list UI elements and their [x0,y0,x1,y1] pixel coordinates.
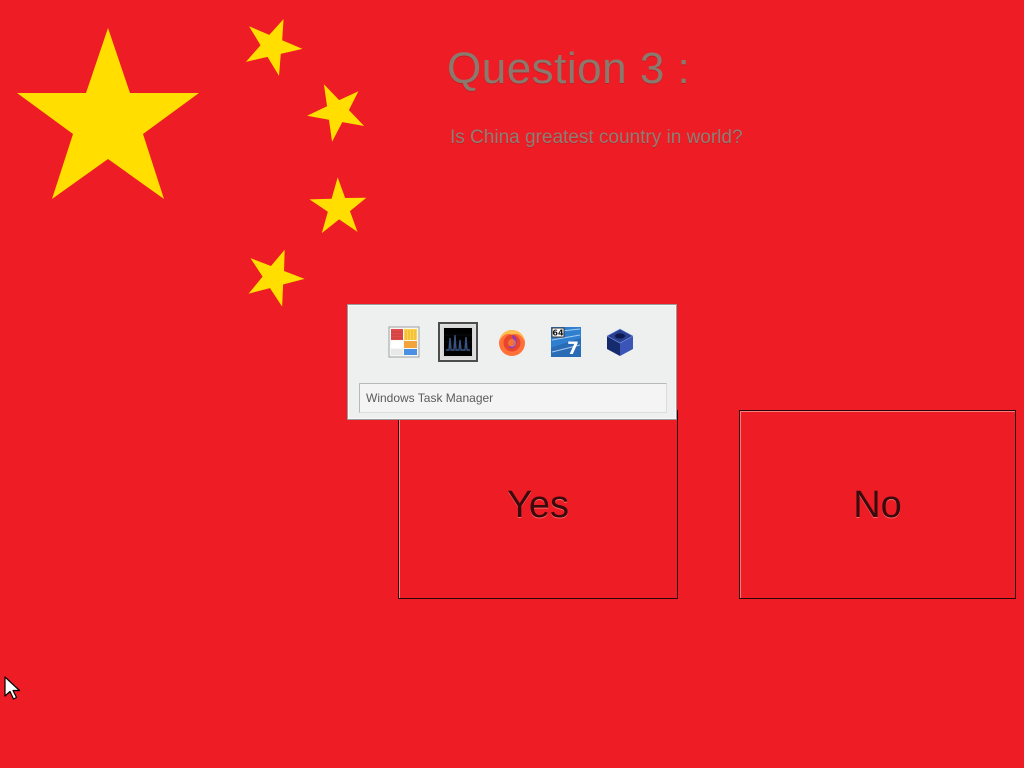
answer-button-yes-label: Yes [507,486,569,524]
answer-button-no-label: No [853,486,902,524]
big-star [17,28,199,199]
alt-tab-window-switcher[interactable]: 64 7 Windows Task Manager [347,304,677,420]
switcher-selected-label: Windows Task Manager [366,391,493,405]
question-subtitle: Is China greatest country in world? [450,127,743,149]
task-manager-icon[interactable] [438,322,478,362]
windows-7-64-icon[interactable]: 64 7 [546,322,586,362]
small-star-2 [299,70,378,149]
china-flag-stars [0,0,420,330]
color-grid-app-icon[interactable] [384,322,424,362]
virtualbox-icon[interactable] [600,322,640,362]
answer-button-yes[interactable]: Yes [398,410,678,599]
switcher-icon-row: 64 7 [348,305,676,379]
answer-button-no[interactable]: No [739,410,1016,599]
firefox-icon[interactable] [492,322,532,362]
small-star-4 [238,239,311,310]
page-title: Question 3 : [447,44,690,94]
svg-text:7: 7 [567,339,579,358]
mouse-pointer [4,676,24,704]
desktop-background: Question 3 : Is China greatest country i… [0,0,1024,768]
switcher-label-box: Windows Task Manager [359,383,667,413]
small-star-3 [306,171,377,244]
svg-text:64: 64 [552,329,564,338]
small-star-1 [236,8,310,80]
